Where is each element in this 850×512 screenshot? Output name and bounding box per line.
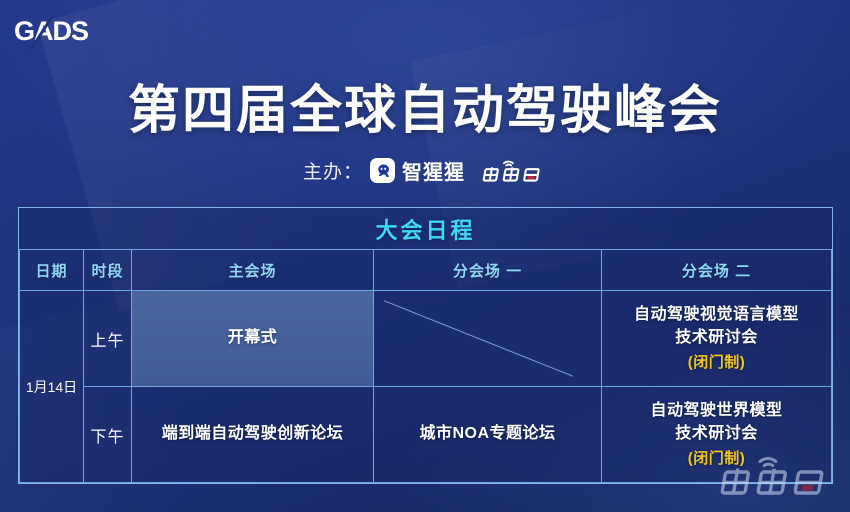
- table-row: 下午 端到端自动驾驶创新论坛 城市NOA专题论坛 自动驾驶世界模型 技术研讨会 …: [20, 387, 832, 483]
- chedongxi-logo-icon: [481, 158, 547, 184]
- sub-hall-2-morning-line1: 自动驾驶视觉语言模型: [634, 306, 799, 323]
- organizer-primary-name: 智猩猩: [402, 156, 465, 185]
- cell-sub-hall-1-morning: [374, 291, 602, 387]
- cell-date: 1月14日: [20, 291, 84, 483]
- table-row: 1月14日 上午 开幕式 自动驾驶视觉语言模型 技术研讨会 (闭门制): [20, 291, 832, 387]
- sub-hall-2-morning-note: (闭门制): [602, 352, 831, 373]
- slide-canvas: GADS 第四届全球自动驾驶峰会 主办： 智猩猩: [0, 0, 850, 512]
- column-header-sub-hall-2: 分会场 二: [602, 250, 832, 291]
- cell-sub-hall-2-afternoon: 自动驾驶世界模型 技术研讨会 (闭门制): [602, 387, 832, 483]
- column-header-main-hall: 主会场: [132, 250, 374, 291]
- diagonal-strike-icon: [374, 291, 601, 386]
- cell-sub-hall-1-afternoon: 城市NOA专题论坛: [374, 387, 602, 483]
- cell-main-hall-afternoon: 端到端自动驾驶创新论坛: [132, 387, 374, 483]
- gads-logo-text: GADS: [14, 15, 98, 47]
- cell-slot-afternoon: 下午: [84, 387, 132, 483]
- organizer-line: 主办： 智猩猩: [0, 156, 850, 185]
- cell-main-hall-morning: 开幕式: [132, 291, 374, 387]
- column-header-slot: 时段: [84, 250, 132, 291]
- sub-hall-2-afternoon-line1: 自动驾驶世界模型: [650, 402, 782, 419]
- column-header-sub-hall-1: 分会场 一: [374, 250, 602, 291]
- sub-hall-2-afternoon-line2: 技术研讨会: [675, 425, 758, 442]
- sub-hall-2-afternoon-note: (闭门制): [602, 448, 831, 469]
- schedule-header-row: 日期 时段 主会场 分会场 一 分会场 二: [20, 250, 832, 291]
- cell-slot-morning: 上午: [84, 291, 132, 387]
- cell-sub-hall-2-morning: 自动驾驶视觉语言模型 技术研讨会 (闭门制): [602, 291, 832, 387]
- schedule-table: 大会日程 日期 时段 主会场 分会场 一 分会场 二 1月14日 上午 开幕式: [18, 207, 833, 484]
- sub-hall-2-morning-line2: 技术研讨会: [675, 329, 758, 346]
- schedule-caption: 大会日程: [20, 208, 832, 250]
- page-title: 第四届全球自动驾驶峰会: [0, 68, 850, 143]
- organizer-label: 主办：: [303, 157, 363, 184]
- column-header-date: 日期: [20, 250, 84, 291]
- gads-logo: GADS: [14, 15, 98, 47]
- gorilla-icon: [370, 158, 395, 183]
- schedule-caption-row: 大会日程: [20, 208, 832, 250]
